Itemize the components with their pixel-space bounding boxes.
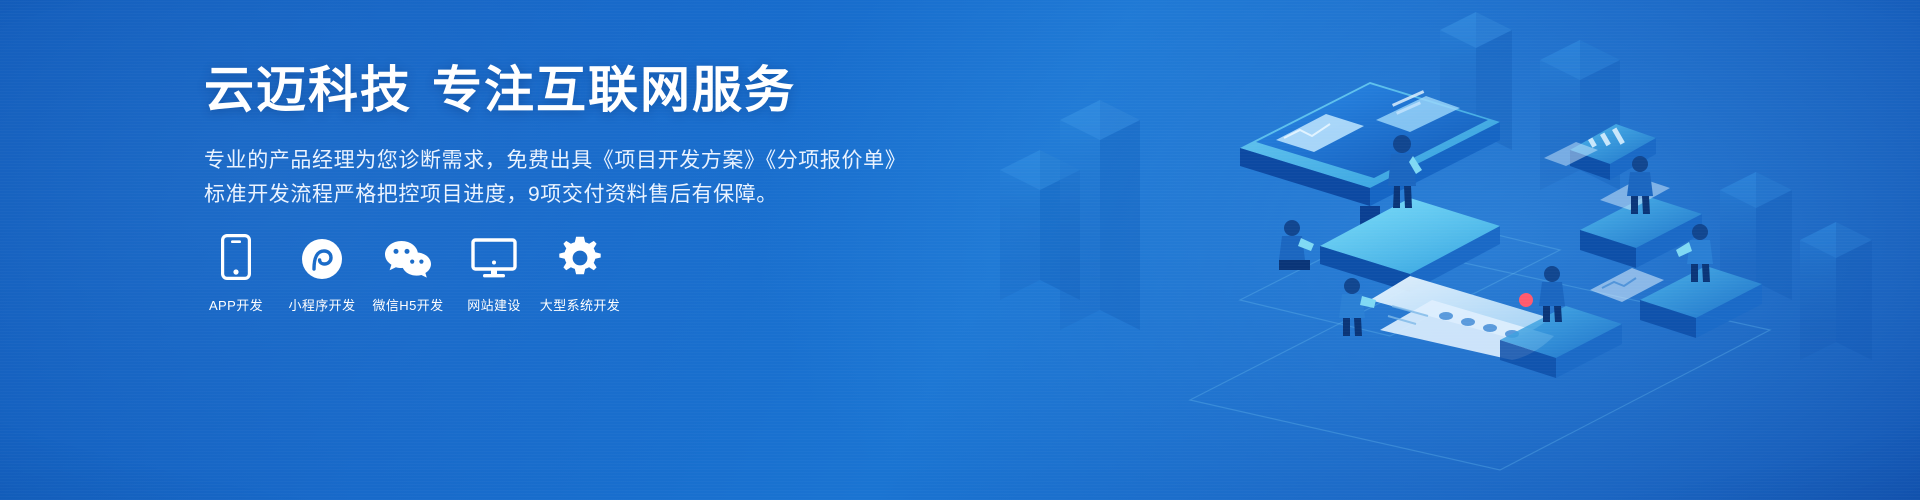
service-item-wechat-h5[interactable]: 微信H5开发 (372, 232, 444, 314)
service-label-wechat-h5: 微信H5开发 (372, 295, 443, 314)
service-list: APP开发 小程序开发 微信 (200, 232, 616, 314)
service-item-large-system[interactable]: 大型系统开发 (544, 232, 616, 314)
service-label-mini-program: 小程序开发 (288, 295, 355, 314)
hero-banner: 云迈科技专注互联网服务 专业的产品经理为您诊断需求，免费出具《项目开发方案》《分… (0, 0, 1920, 500)
subtitle-line-2: 标准开发流程严格把控项目进度，9项交付资料售后有保障。 (204, 178, 964, 212)
subtitle-line-1: 专业的产品经理为您诊断需求，免费出具《项目开发方案》《分项报价单》 (204, 144, 964, 178)
wechat-icon (383, 232, 433, 280)
service-item-website[interactable]: 网站建设 (458, 232, 530, 314)
mini-program-icon (301, 232, 343, 280)
gear-icon (558, 232, 602, 280)
hero-illustration (940, 0, 1920, 500)
subtitle-block: 专业的产品经理为您诊断需求，免费出具《项目开发方案》《分项报价单》 标准开发流程… (204, 144, 964, 212)
hero-copy: 云迈科技专注互联网服务 专业的产品经理为您诊断需求，免费出具《项目开发方案》《分… (204, 62, 964, 212)
service-label-app: APP开发 (209, 295, 263, 314)
headline-brand: 云迈科技 (204, 62, 412, 118)
service-item-app[interactable]: APP开发 (200, 232, 272, 314)
service-item-mini-program[interactable]: 小程序开发 (286, 232, 358, 314)
headline-tagline: 专注互联网服务 (432, 62, 796, 118)
service-label-website: 网站建设 (467, 295, 521, 314)
monitor-icon (471, 232, 517, 280)
page-title: 云迈科技专注互联网服务 (204, 62, 964, 118)
mobile-phone-icon (221, 232, 251, 280)
service-label-large-system: 大型系统开发 (540, 295, 620, 314)
